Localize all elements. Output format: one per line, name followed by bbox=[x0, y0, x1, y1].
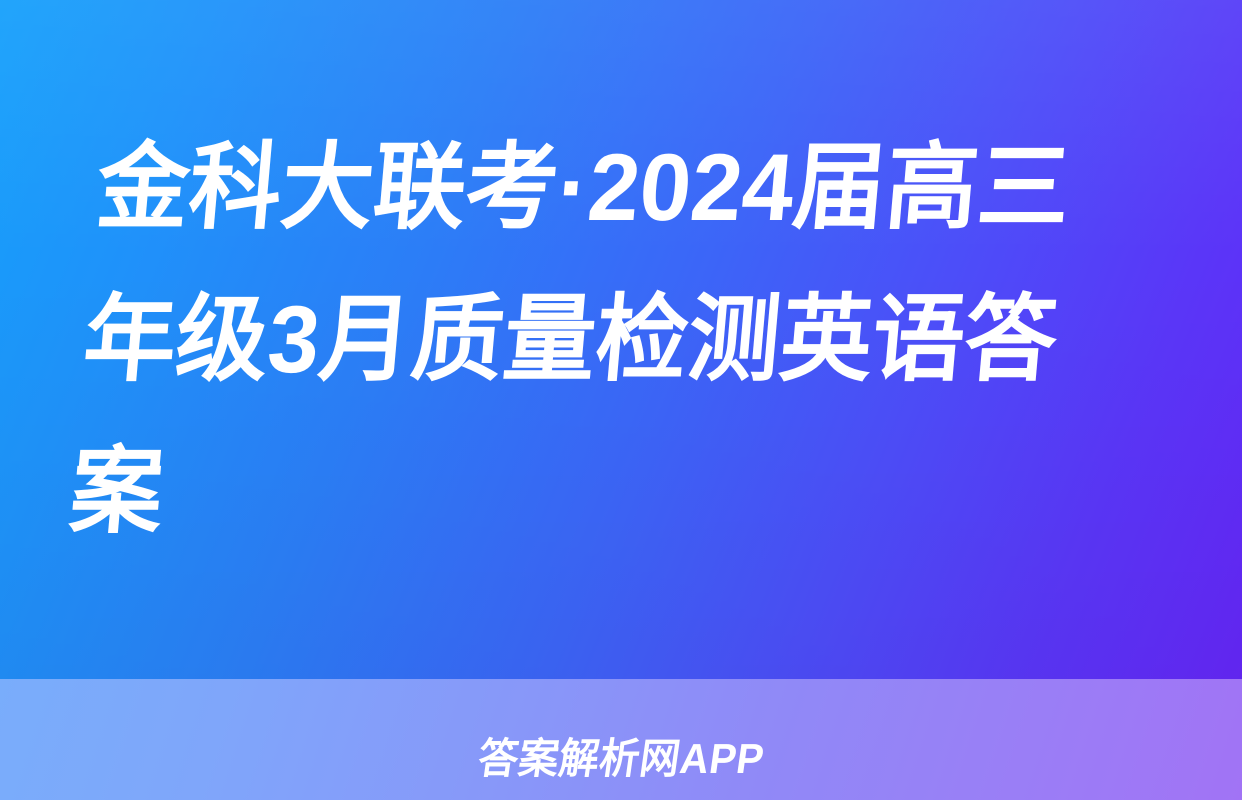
banner-footer-band: 答案解析网APP bbox=[0, 679, 1242, 800]
answer-banner: 金科大联考·2024届高三年级3月质量检测英语答案 答案解析网APP bbox=[0, 0, 1242, 800]
page-title: 金科大联考·2024届高三年级3月质量检测英语答案 bbox=[64, 112, 1146, 568]
app-watermark: 答案解析网APP bbox=[475, 738, 766, 780]
banner-title-container: 金科大联考·2024届高三年级3月质量检测英语答案 bbox=[0, 0, 1242, 679]
